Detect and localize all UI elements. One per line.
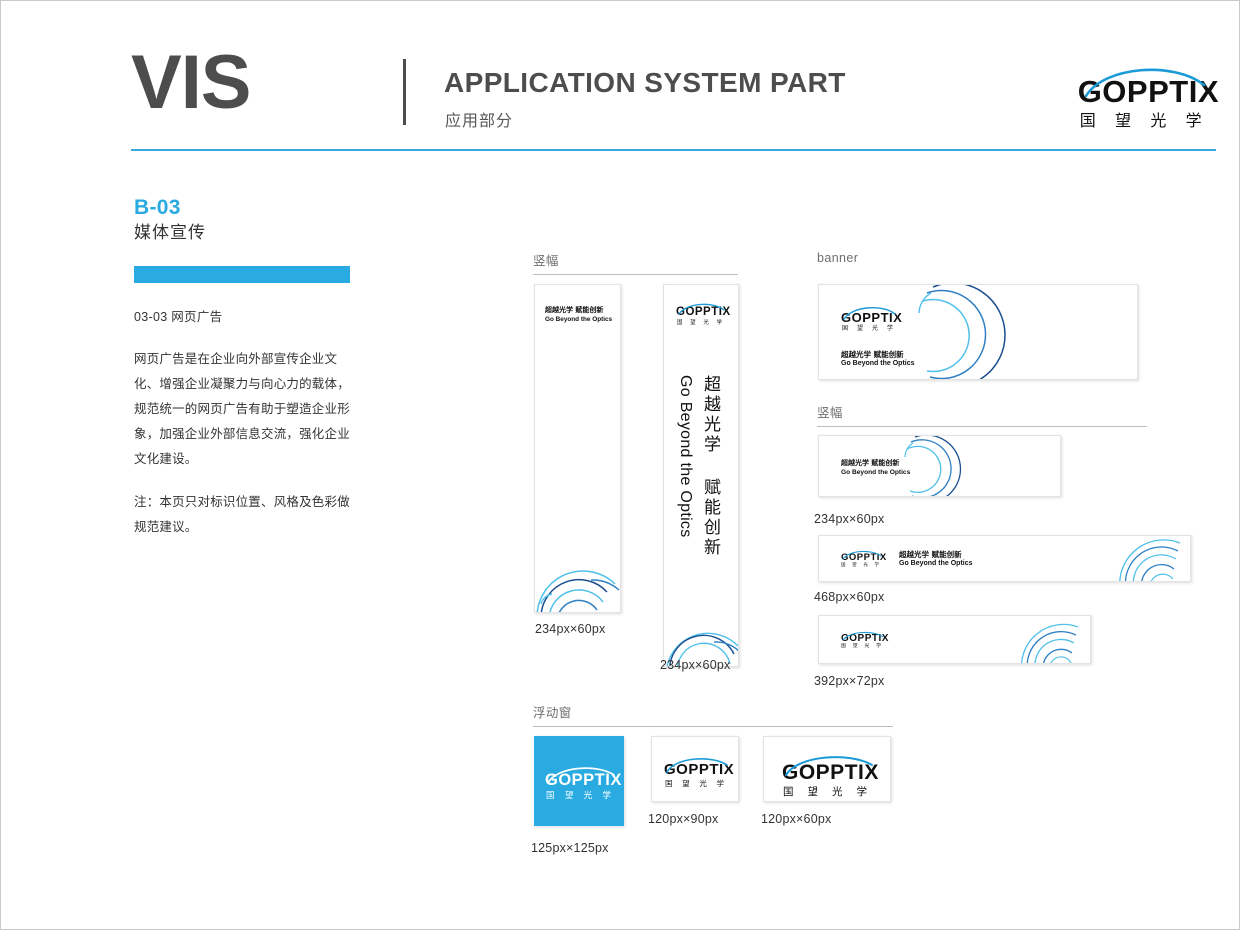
logo-cn-char: 望 (682, 780, 690, 788)
logo-chinese: 国 望 光 学 (841, 645, 881, 650)
section-floating: 浮动窗 (533, 702, 893, 727)
logo-wordmark: GOPPTIX (782, 762, 879, 783)
tagline-block: 超越光学 赋能创新 Go Beyond the Optics (841, 459, 910, 477)
logo-cn-char: 学 (874, 564, 879, 569)
section-label: banner (817, 251, 1147, 270)
brand-logo-float12090: GOPPTIX 国 望 光 学 (664, 754, 734, 788)
logo-cn-char: 学 (857, 787, 868, 798)
logo-chinese: 国 望 光 学 (1080, 113, 1202, 129)
sidebar-subtitle: 媒体宣传 (134, 223, 359, 243)
artboard-float-125[interactable]: GOPPTIX 国 望 光 学 (534, 736, 624, 826)
vertical-tagline-block: Go Beyond the Optics 超越光学 赋能创新 (676, 375, 719, 575)
header-accent-rule (131, 149, 1216, 151)
logo-cn-char: 学 (887, 326, 893, 332)
arc-decoration-icon (1118, 535, 1191, 582)
section-vertical-right: 竖幅 (817, 402, 1147, 427)
logo-cn-char: 国 (841, 564, 846, 569)
arc-decoration-icon (897, 284, 1027, 380)
artboard-banner-large[interactable]: GOPPTIX 国 望 光 学 超越光学 赋能创新 Go Beyond the … (818, 284, 1138, 380)
section-rule (817, 426, 1147, 427)
logo-cn-char: 光 (699, 780, 707, 788)
arc-decoration-icon (535, 540, 621, 613)
section-vertical-left: 竖幅 (533, 250, 738, 275)
logo-wordmark: GOPPTIX (676, 307, 731, 319)
tagline-block: 超越光学 赋能创新 Go Beyond the Optics (545, 306, 612, 324)
logo-wordmark: GOPPTIX (1078, 76, 1219, 107)
tagline-cn: 超越光学 赋能创新 (545, 306, 612, 315)
section-label: 浮动窗 (533, 702, 893, 726)
logo-wordmark: GOPPTIX (841, 311, 902, 324)
dimension-label: 120px×60px (761, 812, 831, 826)
logo-chinese: 国 望 光 学 (841, 564, 879, 569)
logo-chinese: 国 望 光 学 (677, 321, 722, 327)
logo-wordmark: GOPPTIX (841, 553, 887, 563)
logo-cn-char: 望 (1115, 113, 1131, 129)
artboard-banner-234[interactable]: 超越光学 赋能创新 Go Beyond the Optics (818, 435, 1061, 497)
artboard-banner-392[interactable]: GOPPTIX 国 望 光 学 (818, 615, 1091, 664)
logo-cn-char: 学 (716, 780, 724, 788)
logo-cn-char: 国 (842, 326, 848, 332)
brand-logo-banner468: GOPPTIX 国 望 光 学 (841, 548, 887, 568)
logo-cn-char: 国 (665, 780, 673, 788)
brand-logo-header: GOPPTIX 国 望 光 学 (1078, 59, 1219, 129)
dimension-label: 468px×60px (814, 590, 884, 604)
logo-chinese: 国 望 光 学 (842, 326, 893, 332)
logo-wordmark: GOPPTIX (664, 762, 734, 777)
sidebar-code: B-03 (134, 196, 359, 220)
logo-cn-char: 国 (841, 645, 846, 650)
logo-cn-char: 望 (690, 321, 696, 327)
logo-cn-char: 光 (832, 787, 843, 798)
vis-guideline-page: VIS APPLICATION SYSTEM PART 应用部分 GOPPTIX… (0, 0, 1240, 930)
page-title: APPLICATION SYSTEM PART (444, 67, 846, 99)
dimension-label: 120px×90px (648, 812, 718, 826)
page-header: VIS APPLICATION SYSTEM PART 应用部分 (131, 51, 1216, 161)
artboard-float-120x90[interactable]: GOPPTIX 国 望 光 学 (651, 736, 739, 802)
logo-cn-char: 望 (808, 787, 819, 798)
section-label: 竖幅 (533, 250, 738, 274)
logo-chinese: 国 望 光 学 (665, 780, 724, 788)
logo-cn-char: 国 (1080, 113, 1096, 129)
section-rule (533, 726, 893, 727)
logo-cn-char: 国 (677, 321, 683, 327)
artboard-banner-468[interactable]: GOPPTIX 国 望 光 学 超越光学 赋能创新 Go Beyond the … (818, 535, 1191, 582)
sidebar-section-title: 03-03 网页广告 (134, 306, 359, 325)
tagline-en: Go Beyond the Optics (841, 469, 910, 477)
tagline-en: Go Beyond the Optics (899, 560, 973, 569)
vertical-tagline-en: Go Beyond the Optics (676, 375, 694, 538)
logo-cn-char: 国 (783, 787, 794, 798)
dimension-label: 234px×60px (814, 512, 884, 526)
artboard-float-120x60[interactable]: GOPPTIX 国 望 光 学 (763, 736, 891, 802)
brand-logo-banner392: GOPPTIX 国 望 光 学 (841, 629, 889, 650)
tagline-en: Go Beyond the Optics (545, 316, 612, 324)
logo-cn-char: 国 (546, 792, 555, 801)
section-label: 竖幅 (817, 402, 1147, 426)
dimension-label: 125px×125px (531, 841, 609, 855)
dimension-label: 234px×60px (535, 622, 605, 636)
logo-cn-char: 光 (703, 321, 709, 327)
logo-cn-char: 光 (872, 326, 878, 332)
tagline-en: Go Beyond the Optics (841, 360, 915, 369)
header-divider (403, 59, 406, 125)
arc-decoration-icon (1020, 615, 1091, 664)
tagline-block: 超越光学 赋能创新 Go Beyond the Optics (841, 350, 915, 369)
dimension-label: 392px×72px (814, 674, 884, 688)
artboard-vertical-banner-2[interactable]: GOPPTIX 国 望 光 学 Go Beyond the Optics 超越光… (663, 284, 739, 667)
logo-cn-char: 学 (716, 321, 722, 327)
sidebar-body-text: 网页广告是在企业向外部宣传企业文化、增强企业凝聚力与向心力的载体，规范统一的网页… (134, 347, 354, 472)
section-banner: banner (817, 251, 1147, 270)
logo-cn-char: 学 (602, 792, 611, 801)
section-rule (533, 274, 738, 275)
artboard-vertical-banner-1[interactable]: 超越光学 赋能创新 Go Beyond the Optics (534, 284, 621, 613)
logo-wordmark: GOPPTIX (841, 634, 889, 644)
logo-cn-char: 光 (864, 645, 869, 650)
tagline-cn: 超越光学 赋能创新 (841, 459, 910, 468)
logo-cn-char: 光 (584, 792, 593, 801)
brand-logo-banner: GOPPTIX 国 望 光 学 (841, 303, 902, 332)
logo-cn-char: 望 (565, 792, 574, 801)
logo-chinese: 国 望 光 学 (783, 787, 867, 798)
brand-logo-float12060: GOPPTIX 国 望 光 学 (782, 751, 879, 798)
logo-wordmark: GOPPTIX (545, 772, 622, 789)
page-subtitle: 应用部分 (445, 107, 513, 131)
logo-chinese: 国 望 光 学 (546, 792, 611, 801)
brand-logo-float125: GOPPTIX 国 望 光 学 (545, 763, 622, 800)
tagline-cn: 超越光学 赋能创新 (899, 550, 973, 559)
vis-wordmark: VIS (131, 45, 251, 121)
logo-cn-char: 光 (863, 564, 868, 569)
logo-cn-char: 望 (853, 645, 858, 650)
logo-cn-char: 学 (876, 645, 881, 650)
dimension-label: 234px×60px (660, 658, 730, 672)
tagline-cn: 超越光学 赋能创新 (841, 350, 915, 359)
sidebar-note-text: 注：本页只对标识位置、风格及色彩做规范建议。 (134, 490, 354, 540)
sidebar: B-03 媒体宣传 03-03 网页广告 网页广告是在企业向外部宣传企业文化、增… (134, 196, 359, 540)
logo-cn-char: 光 (1150, 113, 1166, 129)
logo-cn-char: 望 (852, 564, 857, 569)
sidebar-accent-bar (134, 266, 350, 283)
logo-cn-char: 望 (857, 326, 863, 332)
brand-logo-vbanner2: GOPPTIX 国 望 光 学 (676, 300, 731, 326)
tagline-block: 超越光学 赋能创新 Go Beyond the Optics (899, 550, 973, 569)
vertical-tagline-cn: 超越光学 赋能创新 (700, 375, 719, 558)
logo-cn-char: 学 (1186, 113, 1202, 129)
